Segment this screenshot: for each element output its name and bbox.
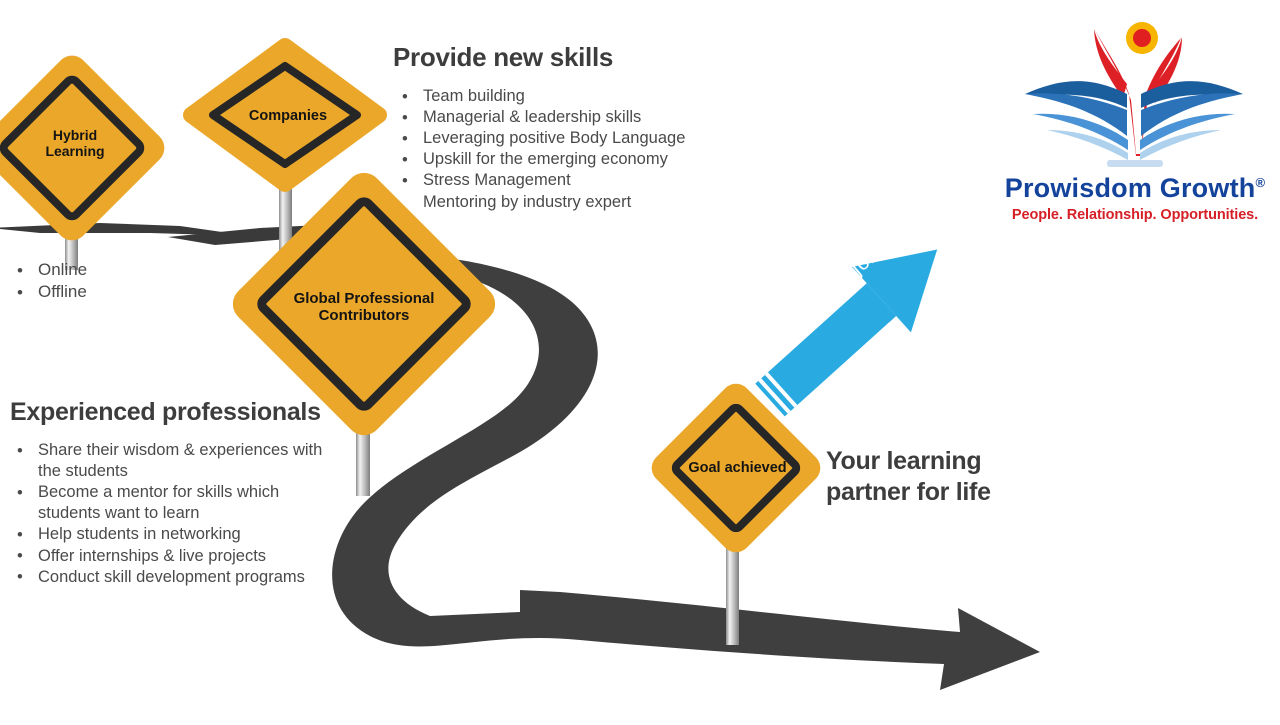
logo-wordmark-text: Prowisdom Growth — [1005, 173, 1256, 203]
registered-mark-icon: ® — [1255, 175, 1265, 190]
logo-tagline: People. Relationship. Opportunities. — [995, 207, 1275, 223]
prowisdom-logo[interactable]: Prowisdom Growth® People. Relationship. … — [995, 8, 1275, 238]
logo-wordmark: Prowisdom Growth® — [995, 173, 1275, 204]
slide-canvas: Hybrid Learning Companies Global Profess… — [0, 0, 1280, 720]
logo-layer: Prowisdom Growth® People. Relationship. … — [0, 0, 1280, 720]
sun-icon — [1126, 22, 1158, 54]
prowisdom-logo-mark — [995, 8, 1275, 173]
book-pages-icon — [1025, 81, 1243, 167]
